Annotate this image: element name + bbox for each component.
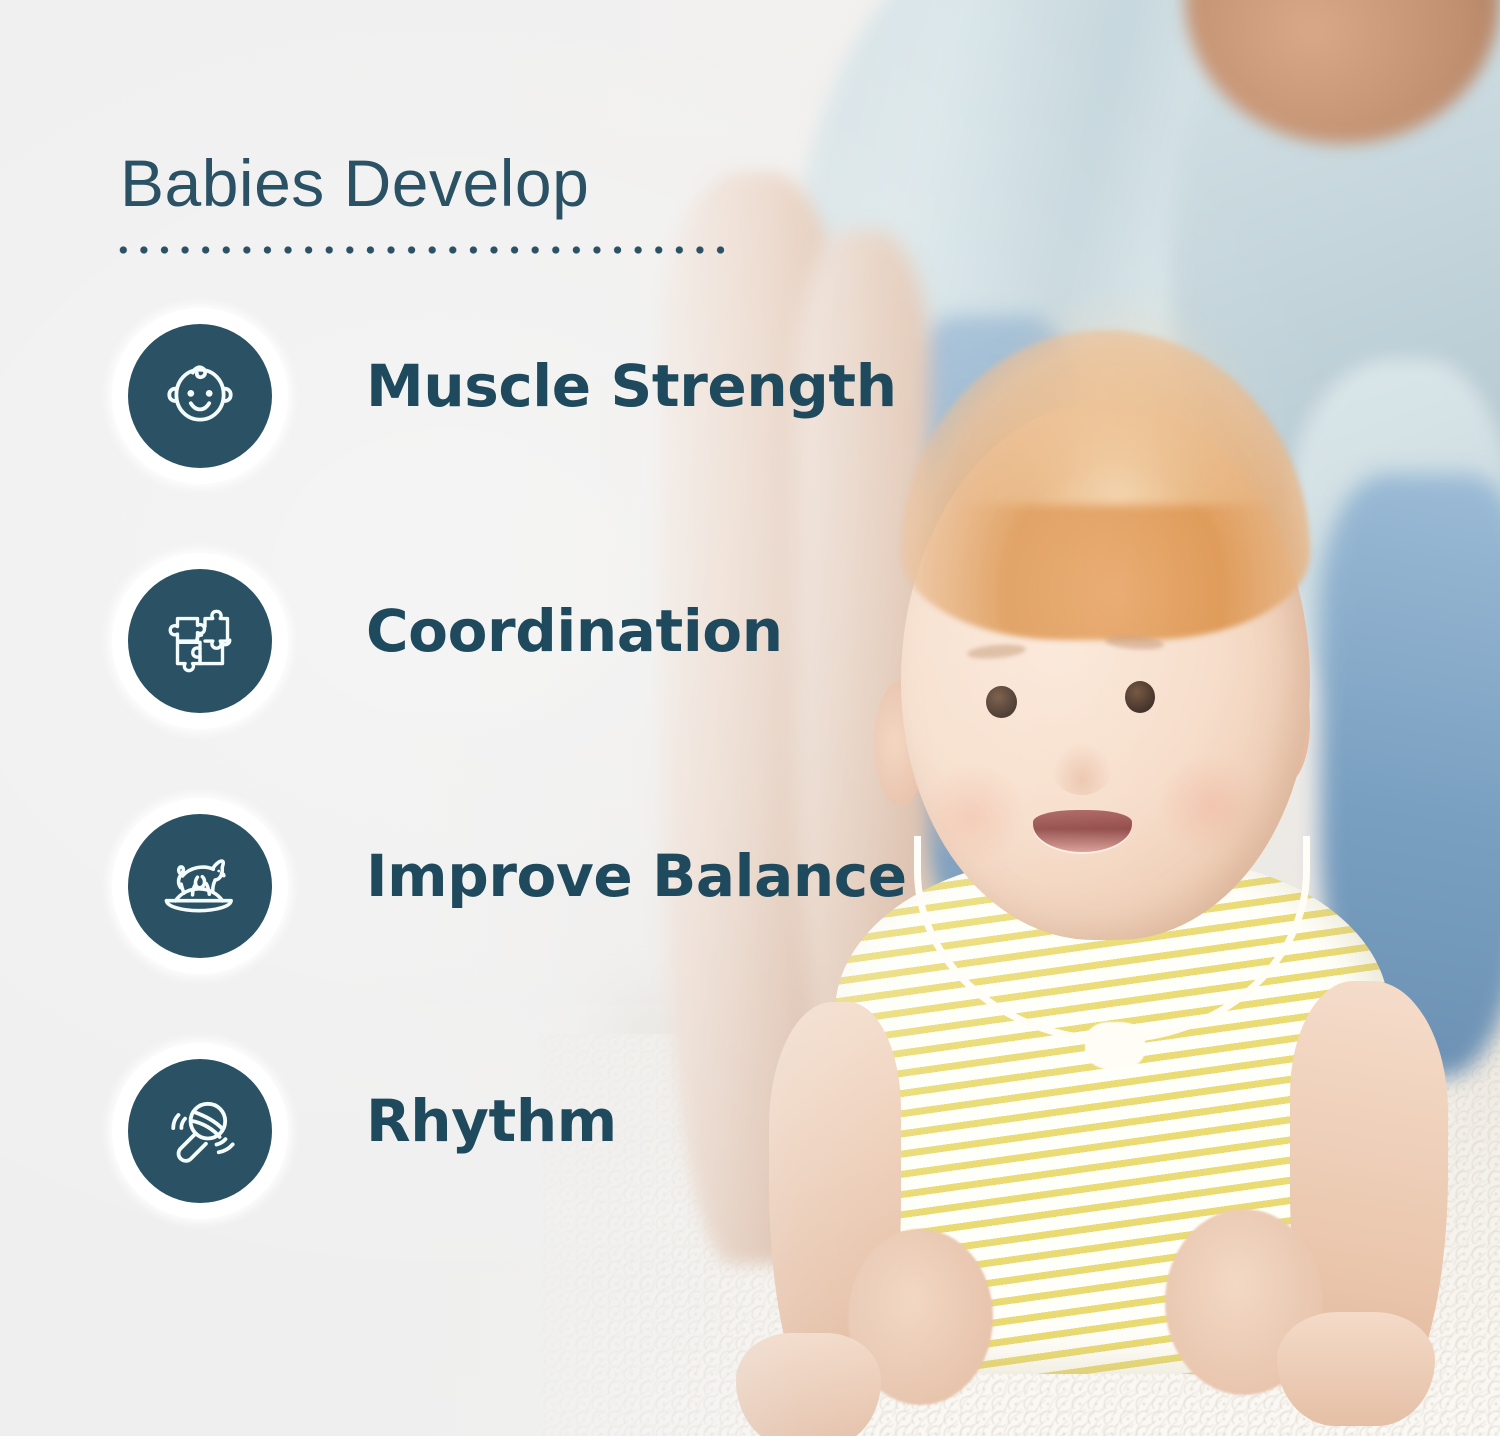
benefit-icon-disc [128,1059,272,1203]
benefit-icon-disc [128,814,272,958]
infographic-banner: Babies Develop [0,0,1500,1436]
benefit-icon-ring [112,798,288,974]
content-overlay: Babies Develop [0,0,1500,1436]
puzzle-pieces-icon [160,601,240,681]
benefit-label: Rhythm [366,1087,617,1155]
benefit-label: Coordination [366,597,783,665]
list-item: Rhythm [0,1043,1500,1288]
list-item: Coordination [0,553,1500,798]
benefit-icon-ring [112,308,288,484]
baby-rattle-icon [158,1089,242,1173]
benefit-label: Muscle Strength [366,352,897,420]
benefit-label: Improve Balance [366,842,907,910]
benefits-list: Muscle Strength [0,308,1500,1288]
benefit-icon-disc [128,569,272,713]
title-dotted-divider [113,243,733,257]
baby-face-icon [158,354,242,438]
list-item: Muscle Strength [0,308,1500,553]
page-title: Babies Develop [120,145,589,221]
benefit-icon-ring [112,553,288,729]
benefit-icon-ring [112,1043,288,1219]
list-item: Improve Balance [0,798,1500,1043]
rocking-horse-icon [156,842,244,930]
benefit-icon-disc [128,324,272,468]
